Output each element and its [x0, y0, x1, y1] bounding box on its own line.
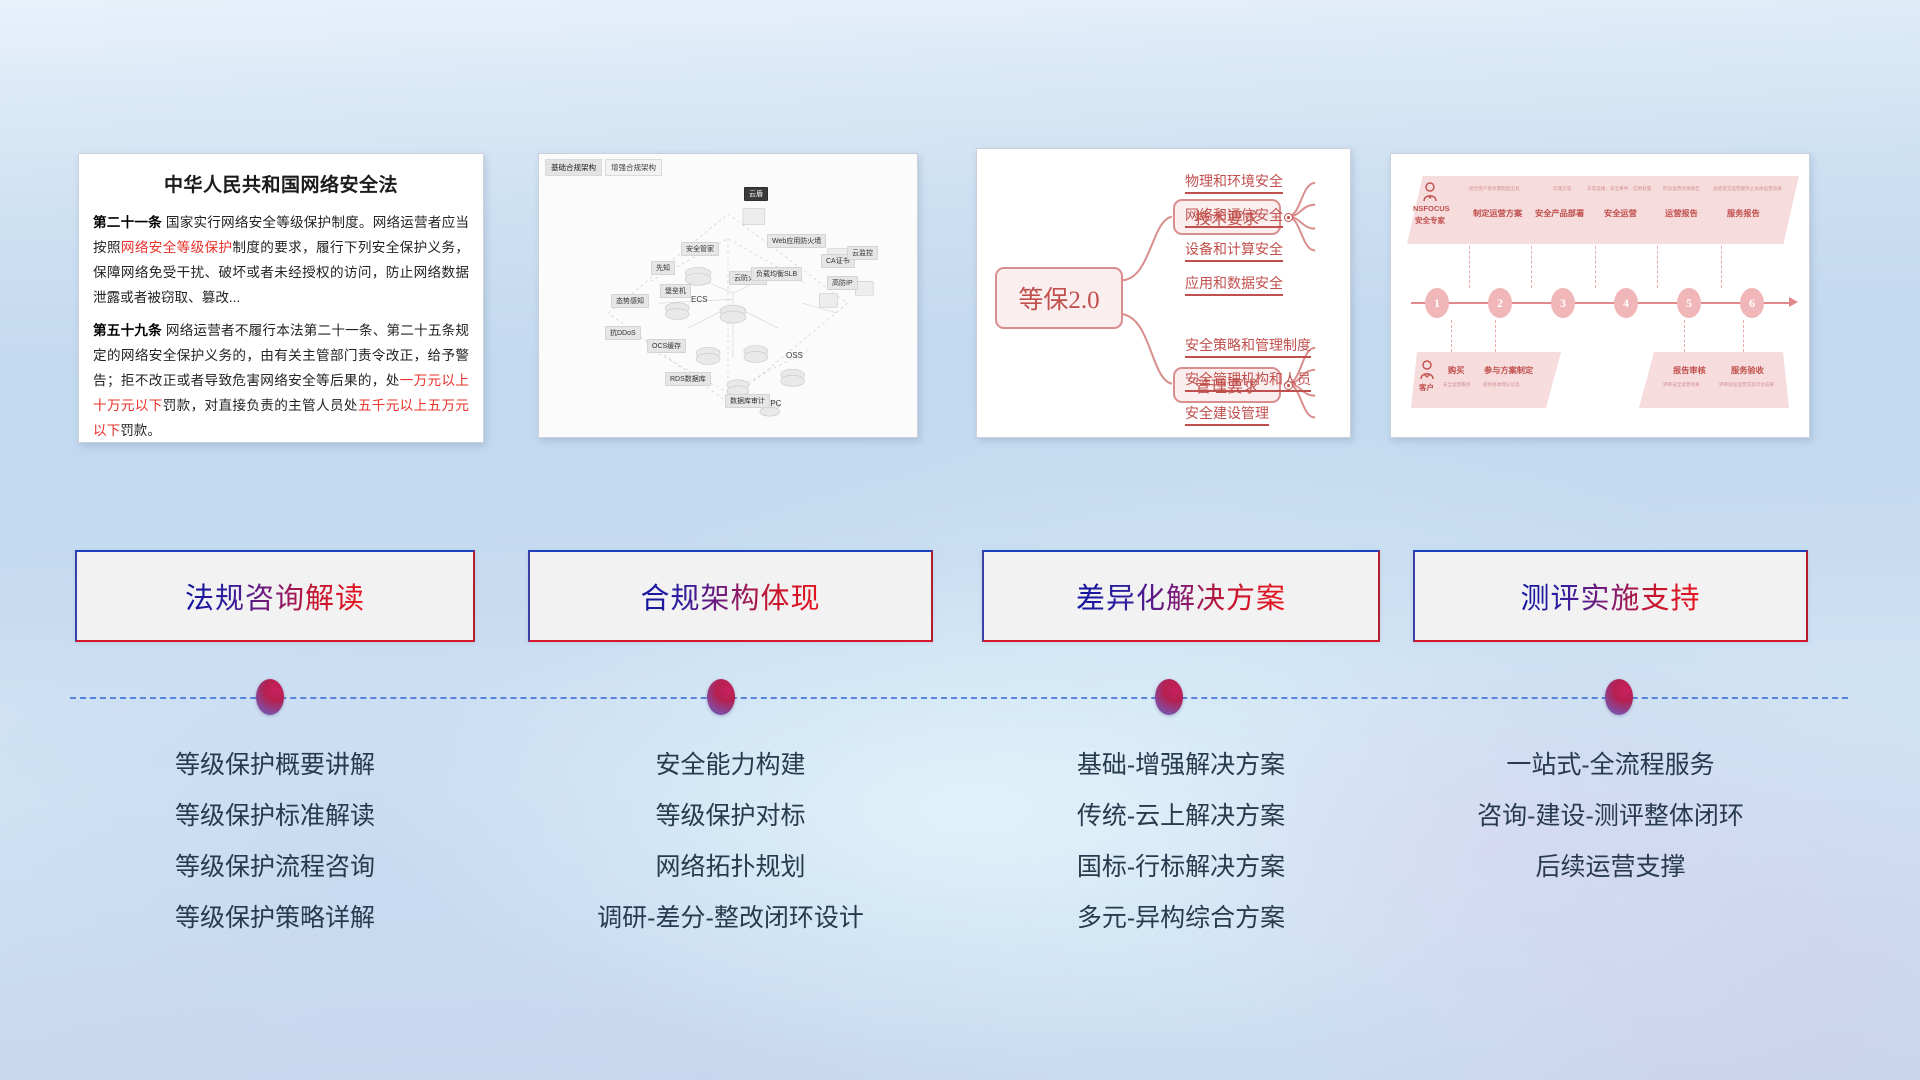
- section-header-box-1[interactable]: 法规咨询解读: [75, 550, 475, 642]
- section-list-3: 基础-增强解决方案 传统-云上解决方案 国标-行标解决方案 多元-异构综合方案: [982, 740, 1380, 944]
- timeline-milestone-dot-4[interactable]: [1605, 679, 1633, 715]
- section-header-box-4[interactable]: 测评实施支持: [1413, 550, 1808, 642]
- list-item: 多元-异构综合方案: [982, 893, 1380, 944]
- list-item: 等级保护概要讲解: [75, 740, 475, 791]
- section-list-4: 一站式-全流程服务 咨询-建设-测评整体闭环 后续运营支撑: [1413, 740, 1808, 893]
- timeline-dashed-line: [70, 697, 1848, 699]
- list-item: 等级保护策略详解: [75, 893, 475, 944]
- list-item: 基础-增强解决方案: [982, 740, 1380, 791]
- list-item: 等级保护流程咨询: [75, 842, 475, 893]
- list-item: 国标-行标解决方案: [982, 842, 1380, 893]
- timeline-milestone-dot-1[interactable]: [256, 679, 284, 715]
- section-header-box-3[interactable]: 差异化解决方案: [982, 550, 1380, 642]
- section-list-1: 等级保护概要讲解 等级保护标准解读 等级保护流程咨询 等级保护策略详解: [75, 740, 475, 944]
- section-header-label-4: 测评实施支持: [1520, 575, 1700, 617]
- section-header-box-2[interactable]: 合规架构体现: [528, 550, 933, 642]
- list-item: 等级保护对标: [528, 791, 933, 842]
- list-item: 传统-云上解决方案: [982, 791, 1380, 842]
- section-header-label-2: 合规架构体现: [640, 575, 820, 617]
- list-item: 调研-差分-整改闭环设计: [528, 893, 933, 944]
- section-header-label-1: 法规咨询解读: [185, 575, 365, 617]
- list-item: 网络拓扑规划: [528, 842, 933, 893]
- timeline-milestone-dot-3[interactable]: [1155, 679, 1183, 715]
- list-item: 咨询-建设-测评整体闭环: [1413, 791, 1808, 842]
- list-item: 等级保护标准解读: [75, 791, 475, 842]
- section-header-label-3: 差异化解决方案: [1076, 575, 1286, 617]
- list-item: 一站式-全流程服务: [1413, 740, 1808, 791]
- list-item: 安全能力构建: [528, 740, 933, 791]
- section-list-2: 安全能力构建 等级保护对标 网络拓扑规划 调研-差分-整改闭环设计: [528, 740, 933, 944]
- timeline-milestone-dot-2[interactable]: [707, 679, 735, 715]
- section-headers: 法规咨询解读 合规架构体现 差异化解决方案 测评实施支持 等级保护概要讲解 等级…: [0, 0, 1920, 1080]
- list-item: 后续运营支撑: [1413, 842, 1808, 893]
